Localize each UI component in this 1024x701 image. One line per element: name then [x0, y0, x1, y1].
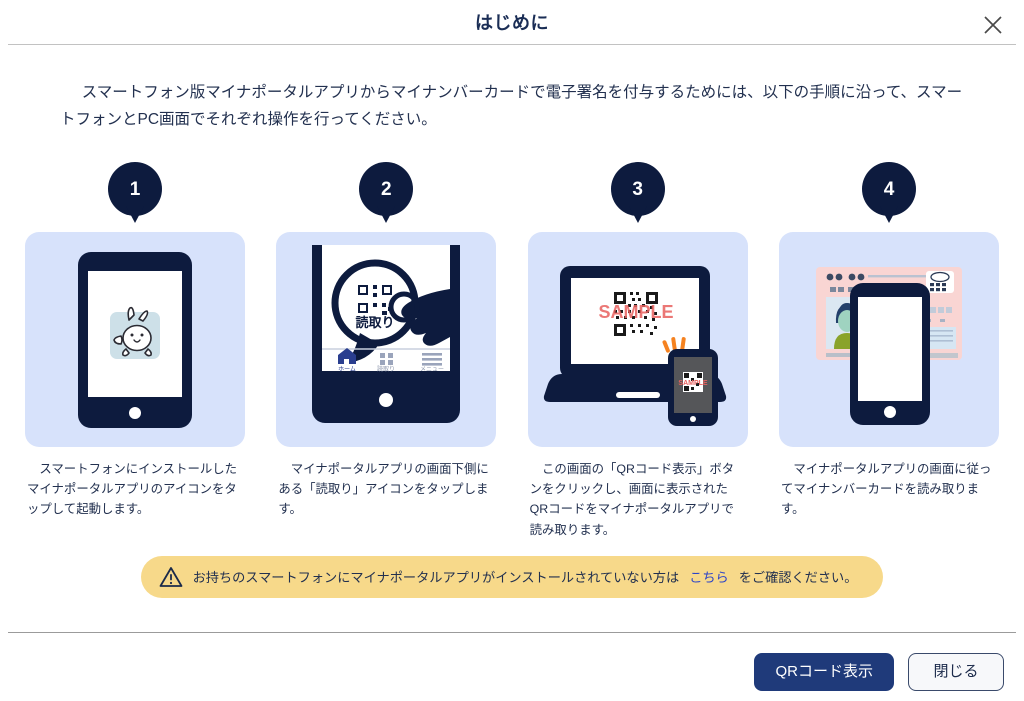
show-qr-code-button[interactable]: QRコード表示 — [754, 653, 894, 691]
close-icon[interactable] — [976, 8, 1010, 42]
nav-label-menu: メニュー — [420, 366, 444, 373]
step-1: 1 — [24, 162, 246, 539]
step-4: 4 — [778, 162, 1000, 539]
step-badge-3: 3 — [611, 162, 665, 216]
step-number: 2 — [381, 180, 392, 199]
dialog-footer: QRコード表示 閉じる — [754, 653, 1004, 691]
intro-text: スマートフォン版マイナポータルアプリからマイナンバーカードで電子署名を付与するた… — [0, 61, 1024, 141]
phone-app-icon-graphic — [76, 250, 194, 430]
dialog-header: はじめに — [0, 0, 1024, 44]
step-caption: マイナポータルアプリの画面下側にある「読取り」アイコンをタップします。 — [278, 459, 494, 519]
step-caption: スマートフォンにインストールしたマイナポータルアプリのアイコンをタップして起動し… — [27, 459, 243, 519]
step-number: 4 — [884, 180, 895, 199]
step-number: 3 — [632, 180, 643, 199]
step-illustration-card-and-phone — [779, 232, 999, 447]
phone-sample-watermark: SAMPLE — [678, 380, 708, 387]
getting-started-dialog: はじめに スマートフォン版マイナポータルアプリからマイナンバーカードで電子署名を… — [0, 0, 1024, 701]
install-notice-banner: お持ちのスマートフォンにマイナポータルアプリがインストールされていない方はこちら… — [141, 556, 884, 598]
step-illustration-phone-with-app-icon — [25, 232, 245, 447]
nav-label-scan: 読取り — [377, 365, 395, 373]
scan-label: 読取り — [356, 315, 395, 330]
warning-triangle-icon — [159, 566, 183, 588]
notice-text-after: をご確認ください。 — [739, 567, 858, 586]
nav-label-home: ホーム — [338, 366, 356, 373]
step-badge-4: 4 — [862, 162, 916, 216]
footer-divider — [8, 632, 1016, 633]
notice-link-kochira[interactable]: こちら — [689, 567, 729, 586]
notice-banner-wrapper: お持ちのスマートフォンにマイナポータルアプリがインストールされていない方はこちら… — [0, 556, 1024, 598]
mynumber-card-phone-graphic — [794, 245, 984, 435]
step-badge-2: 2 — [359, 162, 413, 216]
phone-tap-scan-graphic: 読取り — [300, 245, 472, 435]
page-title: はじめに — [475, 9, 549, 35]
qr-sample-watermark: SAMPLE — [598, 302, 673, 322]
step-3: 3 — [527, 162, 749, 539]
step-caption: マイナポータルアプリの画面に従ってマイナンバーカードを読み取ります。 — [781, 459, 997, 519]
step-badge-1: 1 — [108, 162, 162, 216]
laptop-qr-phone-graphic: SAMPLE — [540, 254, 736, 426]
step-illustration-laptop-qr: SAMPLE — [528, 232, 748, 447]
notice-text-before: お持ちのスマートフォンにマイナポータルアプリがインストールされていない方は — [193, 567, 680, 586]
step-number: 1 — [130, 180, 141, 199]
close-button[interactable]: 閉じる — [908, 653, 1004, 691]
step-2: 2 — [275, 162, 497, 539]
step-caption: この画面の「QRコード表示」ボタンをクリックし、画面に表示されたQRコードをマイ… — [530, 459, 746, 539]
step-illustration-phone-tap-scan: 読取り — [276, 232, 496, 447]
steps-row: 1 — [0, 156, 1024, 539]
ic-chip-icon — [926, 271, 954, 293]
close-icon-glyph — [982, 14, 1004, 36]
header-divider — [8, 44, 1016, 45]
